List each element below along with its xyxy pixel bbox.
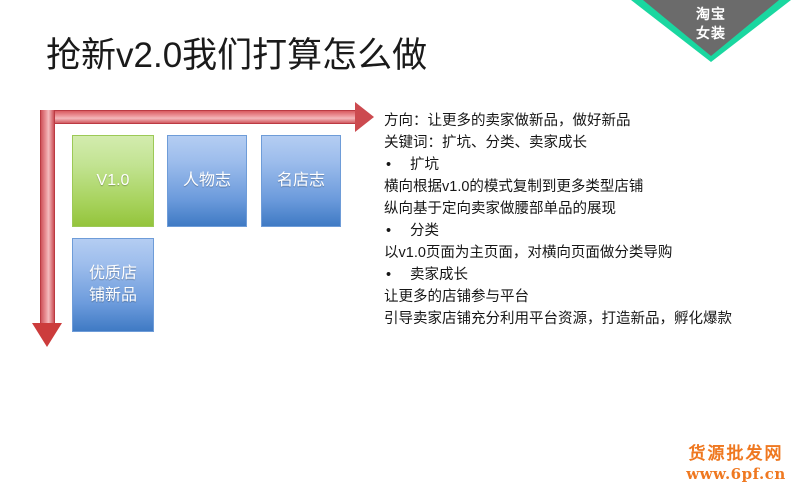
body-line: 纵向基于定向卖家做腰部单品的展现 (384, 198, 784, 220)
watermark-url: www.6pf.cn (676, 465, 796, 484)
diagram-box-v1-0[interactable]: V1.0 (72, 135, 154, 227)
bullet-dot-icon: • (386, 220, 410, 242)
body-bullet-line: •扩坑 (384, 154, 784, 176)
diagram-box-renwuzhi[interactable]: 人物志 (167, 135, 247, 227)
diagram-box-mingdianzhi[interactable]: 名店志 (261, 135, 341, 227)
bullet-dot-icon: • (386, 154, 410, 176)
body-bullet-line: •卖家成长 (384, 264, 784, 286)
body-line-label: 分类 (410, 223, 439, 239)
body-line: 让更多的店铺参与平台 (384, 286, 784, 308)
body-line: 引导卖家店铺充分利用平台资源，打造新品，孵化爆款 (384, 308, 784, 330)
arrow-right-head-icon (355, 102, 374, 132)
slide-canvas: 淘宝 女装 抢新v2.0我们打算怎么做 V1.0 人物志 名店志 优质店 铺新品… (0, 0, 800, 500)
badge-label: 淘宝 女装 (631, 5, 791, 43)
body-line: 以v1.0页面为主页面，对横向页面做分类导购 (384, 242, 784, 264)
watermark-site-name: 货源批发网 (676, 444, 796, 465)
taobao-womenswear-badge: 淘宝 女装 (631, 0, 791, 62)
body-line: 关键词：扩坑、分类、卖家成长 (384, 132, 784, 154)
page-title: 抢新v2.0我们打算怎么做 (46, 34, 427, 78)
arrow-vertical-shaft (40, 110, 55, 326)
diagram-box-youzhi-dianpu-xinpin[interactable]: 优质店 铺新品 (72, 238, 154, 332)
body-line-label: 扩坑 (410, 157, 439, 173)
body-line-label: 卖家成长 (410, 267, 468, 283)
arrow-horizontal-shaft (40, 110, 358, 124)
arrow-down-head-icon (32, 323, 62, 347)
body-text-block: 方向：让更多的卖家做新品，做好新品 关键词：扩坑、分类、卖家成长 •扩坑 横向根… (384, 110, 784, 330)
bullet-dot-icon: • (386, 264, 410, 286)
body-line: 方向：让更多的卖家做新品，做好新品 (384, 110, 784, 132)
body-bullet-line: •分类 (384, 220, 784, 242)
body-line: 横向根据v1.0的模式复制到更多类型店铺 (384, 176, 784, 198)
watermark: 货源批发网 www.6pf.cn (676, 444, 796, 484)
